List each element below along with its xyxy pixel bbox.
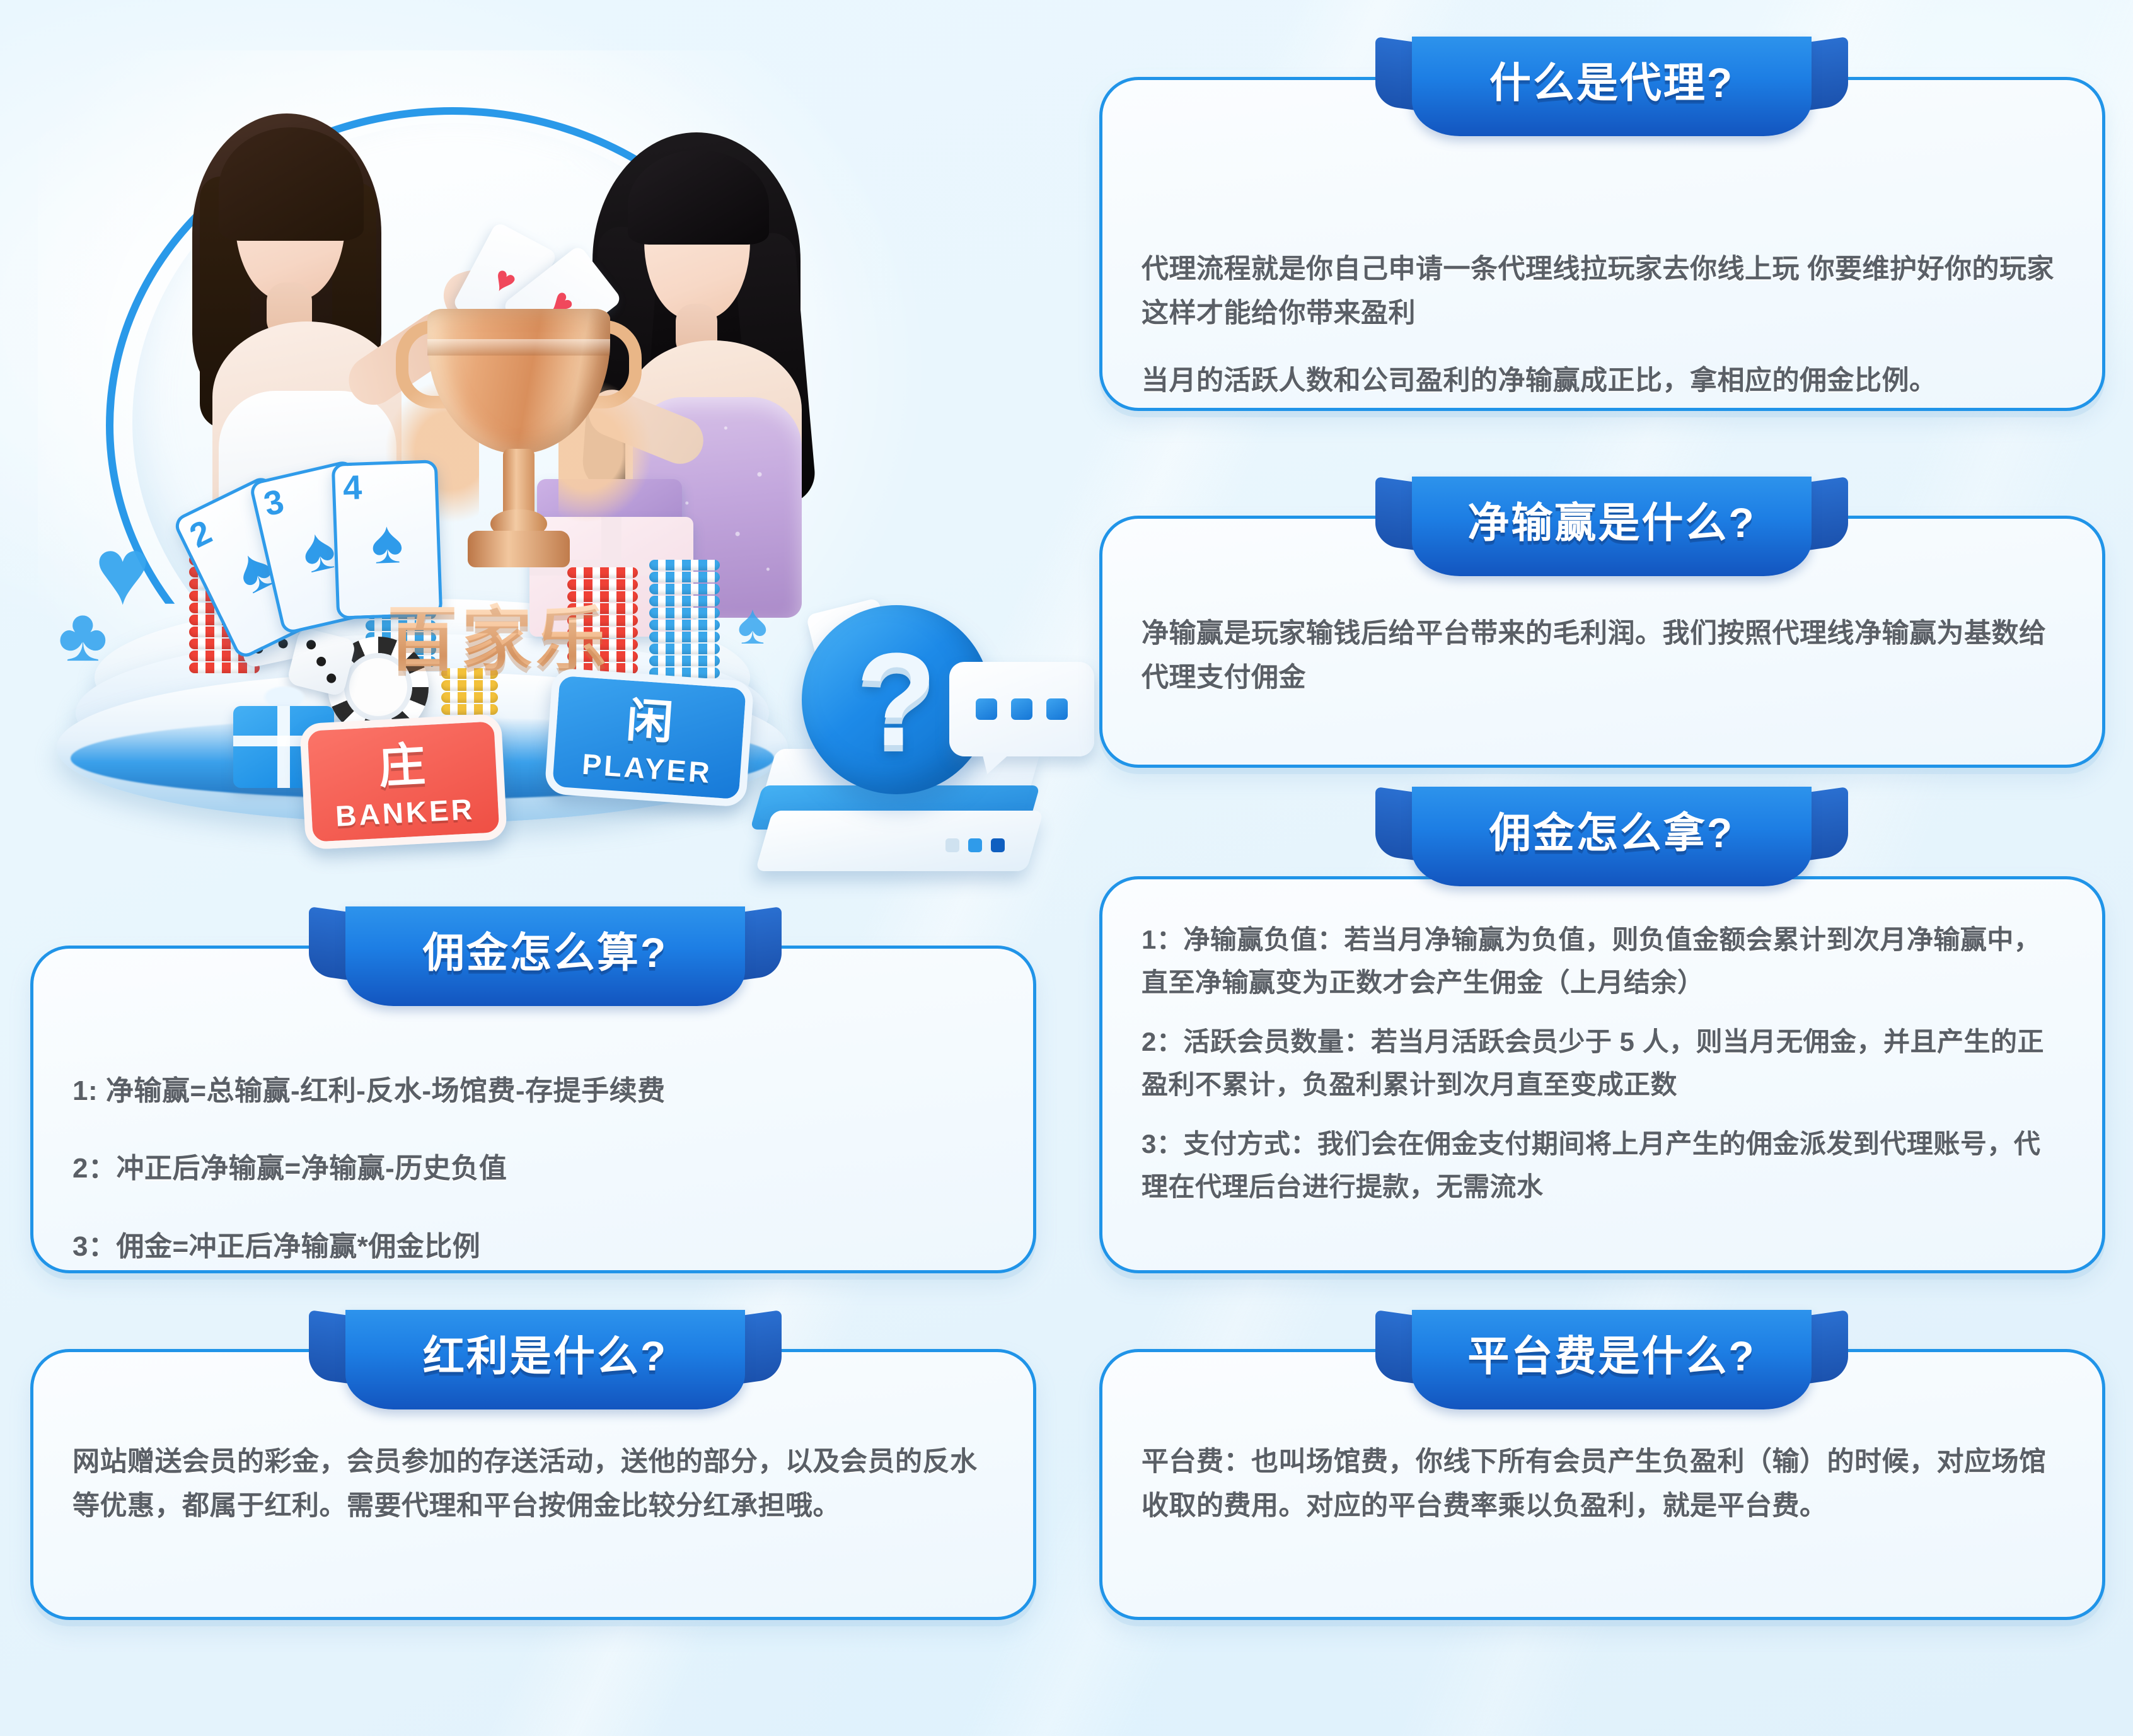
ribbon-body: 佣金怎么拿?: [1412, 787, 1812, 886]
faq-paragraph: 当月的活跃人数和公司盈利的净输赢成正比，拿相应的佣金比例。: [1142, 359, 2063, 403]
faq-title: 佣金怎么拿?: [1489, 812, 1734, 854]
faq-title: 佣金怎么算?: [423, 932, 668, 973]
hero-illustration: ♥ ♣ ♥ ♥: [0, 38, 1034, 857]
faq-paragraph: 网站赠送会员的彩金，会员参加的存送活动，送他的部分，以及会员的反水等优惠，都属于…: [72, 1440, 994, 1528]
faq-title: 净输赢是什么?: [1467, 502, 1755, 543]
ribbon-body: 平台费是什么?: [1412, 1310, 1812, 1409]
ribbon-body: 佣金怎么算?: [345, 906, 745, 1006]
faq-paragraph: 代理流程就是你自己申请一条代理线拉玩家去你线上玩 你要维护好你的玩家 这样才能给…: [1142, 248, 2063, 335]
banker-badge: 庄 BANKER: [299, 714, 507, 850]
spade-icon: ♠: [370, 507, 405, 578]
chat-bubble-icon: [949, 662, 1094, 756]
banker-badge-cn: 庄: [308, 738, 497, 794]
faq-paragraph: 平台费：也叫场馆费，你线下所有会员产生负盈利（输）的时候，对应场馆收取的费用。对…: [1142, 1440, 2063, 1528]
faq-title: 平台费是什么?: [1467, 1335, 1755, 1377]
player-badge-en: PLAYER: [553, 745, 741, 792]
faq-paragraph: 净输赢是玩家输钱后给平台带来的毛利润。我们按照代理线净输赢为基数给代理支付佣金: [1142, 612, 2063, 700]
ribbon-body: 什么是代理?: [1412, 37, 1812, 136]
faq-paragraph: 1：净输赢负值：若当月净输赢为负值，则负值金额会累计到次月净输赢中，直至净输赢变…: [1142, 918, 2063, 1004]
faq-title: 什么是代理?: [1489, 62, 1734, 103]
game-title-baccarat: 百家乐: [357, 599, 640, 681]
faq-paragraph: 2：冲正后净输赢=净输赢-历史负值: [72, 1146, 994, 1191]
qm-led-indicators: [945, 838, 1005, 852]
faq-header-what-is-platform-fee: 平台费是什么?: [1375, 1310, 1848, 1409]
faq-paragraph: 3：支付方式：我们会在佣金支付期间将上月产生的佣金派发到代理账号，代理在代理后台…: [1142, 1123, 2063, 1208]
banker-badge-en: BANKER: [311, 790, 499, 834]
faq-header-how-is-commission-calculated: 佣金怎么算?: [309, 906, 782, 1006]
faq-header-what-is-net-win-loss: 净输赢是什么?: [1375, 477, 1848, 576]
faq-paragraph: 1: 净输赢=总输赢-红利-反水-场馆费-存提手续费: [72, 1068, 994, 1113]
ribbon-body: 红利是什么?: [345, 1310, 745, 1409]
player-badge: 闲 PLAYER: [544, 668, 754, 807]
player-badge-cn: 闲: [556, 692, 745, 751]
faq-header-how-to-get-commission: 佣金怎么拿?: [1375, 787, 1848, 886]
spade-decoration-icon: ♠: [737, 593, 768, 657]
ribbon-body: 净输赢是什么?: [1412, 477, 1812, 576]
faq-header-what-is-bonus: 红利是什么?: [309, 1310, 782, 1409]
chip-stack-blue: [649, 560, 720, 680]
faq-title: 红利是什么?: [423, 1335, 668, 1377]
faq-paragraph: 2：活跃会员数量：若当月活跃会员少于 5 人，则当月无佣金，并且产生的正盈利不累…: [1142, 1021, 2063, 1106]
faq-paragraph: 3：佣金=冲正后净输赢*佣金比例: [72, 1224, 994, 1269]
faq-card-how-to-get-commission: 1：净输赢负值：若当月净输赢为负值，则负值金额会累计到次月净输赢中，直至净输赢变…: [1099, 876, 2105, 1273]
playing-card: 4 ♠: [332, 460, 443, 620]
faq-header-what-is-agent: 什么是代理?: [1375, 37, 1848, 136]
